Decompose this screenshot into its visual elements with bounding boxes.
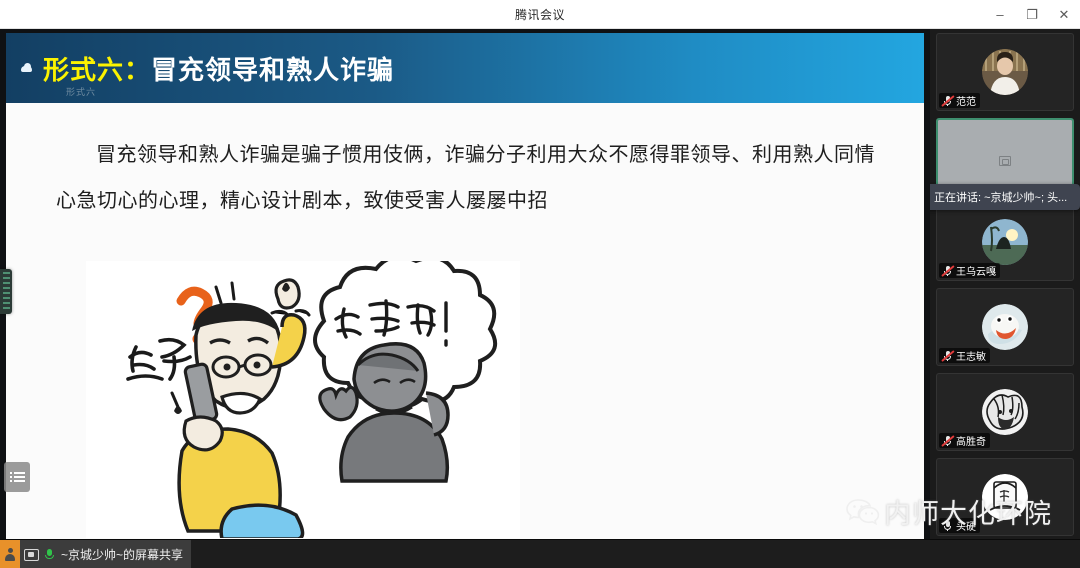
participant-name-chip: 王志敏 bbox=[939, 348, 990, 363]
participant-name-chip: 王乌云嘎 bbox=[939, 263, 1000, 278]
participant-tile[interactable]: 王志敏 bbox=[936, 288, 1074, 366]
participant-name-chip: 头硬 bbox=[939, 518, 980, 533]
participant-name: 王乌云嘎 bbox=[956, 263, 996, 278]
window-titlebar: 腾讯会议 – ❐ ✕ bbox=[0, 0, 1080, 29]
avatar bbox=[982, 474, 1028, 520]
avatar bbox=[982, 219, 1028, 265]
speaking-toast: 正在讲话: ~京城少帅~; 头... bbox=[930, 184, 1080, 210]
cartoon-svg bbox=[86, 261, 520, 538]
mic-muted-icon bbox=[941, 349, 954, 362]
avatar bbox=[982, 389, 1028, 435]
shared-screen-stage[interactable]: 形式六：冒充领导和熟人诈骗 形式六 冒充领导和熟人诈骗是骗子惯用伎俩，诈骗分子利… bbox=[0, 29, 930, 539]
participant-name: 范范 bbox=[956, 93, 976, 108]
slide-header-banner: 形式六：冒充领导和熟人诈骗 形式六 bbox=[6, 33, 924, 103]
close-button[interactable]: ✕ bbox=[1048, 0, 1080, 29]
app-root: 腾讯会议 – ❐ ✕ 形式六：冒充领导和熟人诈骗 形式六 冒充领导和熟人诈骗是骗… bbox=[0, 0, 1080, 568]
user-icon bbox=[0, 540, 20, 568]
slide-title: 形式六：冒充领导和熟人诈骗 bbox=[43, 50, 394, 87]
participant-name: 头硬 bbox=[956, 518, 976, 533]
participant-name-chip: 高胜奇 bbox=[939, 433, 990, 448]
side-panel-tab[interactable] bbox=[0, 269, 12, 314]
participant-tile[interactable]: 王乌云嘎 bbox=[936, 203, 1074, 281]
slide-ghost-title: 形式六 bbox=[66, 85, 96, 98]
participants-list-button[interactable] bbox=[4, 462, 30, 492]
participant-name: 高胜奇 bbox=[956, 433, 986, 448]
list-icon bbox=[10, 470, 25, 484]
participant-name: 王志敏 bbox=[956, 348, 986, 363]
participant-rail[interactable]: 范范 bbox=[930, 29, 1080, 539]
slide-title-main: 冒充领导和熟人诈骗 bbox=[151, 56, 394, 86]
microphone-icon bbox=[43, 548, 56, 562]
slide-body: 冒充领导和熟人诈骗是骗子惯用伎俩，诈骗分子利用大众不愿得罪领导、利用熟人同情心急… bbox=[6, 103, 924, 539]
taskbar-share-item[interactable]: ~京城少帅~的屏幕共享 bbox=[0, 540, 191, 568]
slide-cartoon-illustration bbox=[86, 261, 520, 538]
bullet-cloud-icon bbox=[20, 62, 34, 74]
participant-name-chip: 范范 bbox=[939, 93, 980, 108]
taskbar: ~京城少帅~的屏幕共享 bbox=[0, 539, 1080, 568]
screen-share-thumbnail bbox=[938, 120, 1072, 194]
participant-tile[interactable]: 范范 bbox=[936, 33, 1074, 111]
minimize-button[interactable]: – bbox=[984, 0, 1016, 29]
taskbar-share-button[interactable]: ~京城少帅~的屏幕共享 bbox=[20, 540, 191, 568]
speaking-toast-text: 正在讲话: ~京城少帅~; 头... bbox=[934, 189, 1067, 205]
avatar bbox=[982, 304, 1028, 350]
participant-tile[interactable]: 高胜奇 bbox=[936, 373, 1074, 451]
restore-button[interactable]: ❐ bbox=[1016, 0, 1048, 29]
window-title: 腾讯会议 bbox=[515, 6, 565, 23]
mic-on-icon bbox=[941, 519, 954, 532]
mic-muted-icon bbox=[941, 264, 954, 277]
mic-muted-icon bbox=[941, 434, 954, 447]
image-placeholder-icon bbox=[999, 156, 1011, 166]
mic-muted-icon bbox=[941, 94, 954, 107]
avatar bbox=[982, 49, 1028, 95]
slide-title-highlight: 形式六： bbox=[43, 56, 151, 86]
participant-tile[interactable]: 头硬 bbox=[936, 458, 1074, 536]
taskbar-share-label: ~京城少帅~的屏幕共享 bbox=[61, 546, 183, 563]
window-controls: – ❐ ✕ bbox=[984, 0, 1080, 29]
slide-paragraph: 冒充领导和熟人诈骗是骗子惯用伎俩，诈骗分子利用大众不愿得罪领导、利用熟人同情心急… bbox=[56, 131, 876, 223]
screen-share-icon bbox=[24, 549, 39, 561]
presentation-slide: 形式六：冒充领导和熟人诈骗 形式六 冒充领导和熟人诈骗是骗子惯用伎俩，诈骗分子利… bbox=[6, 33, 924, 539]
